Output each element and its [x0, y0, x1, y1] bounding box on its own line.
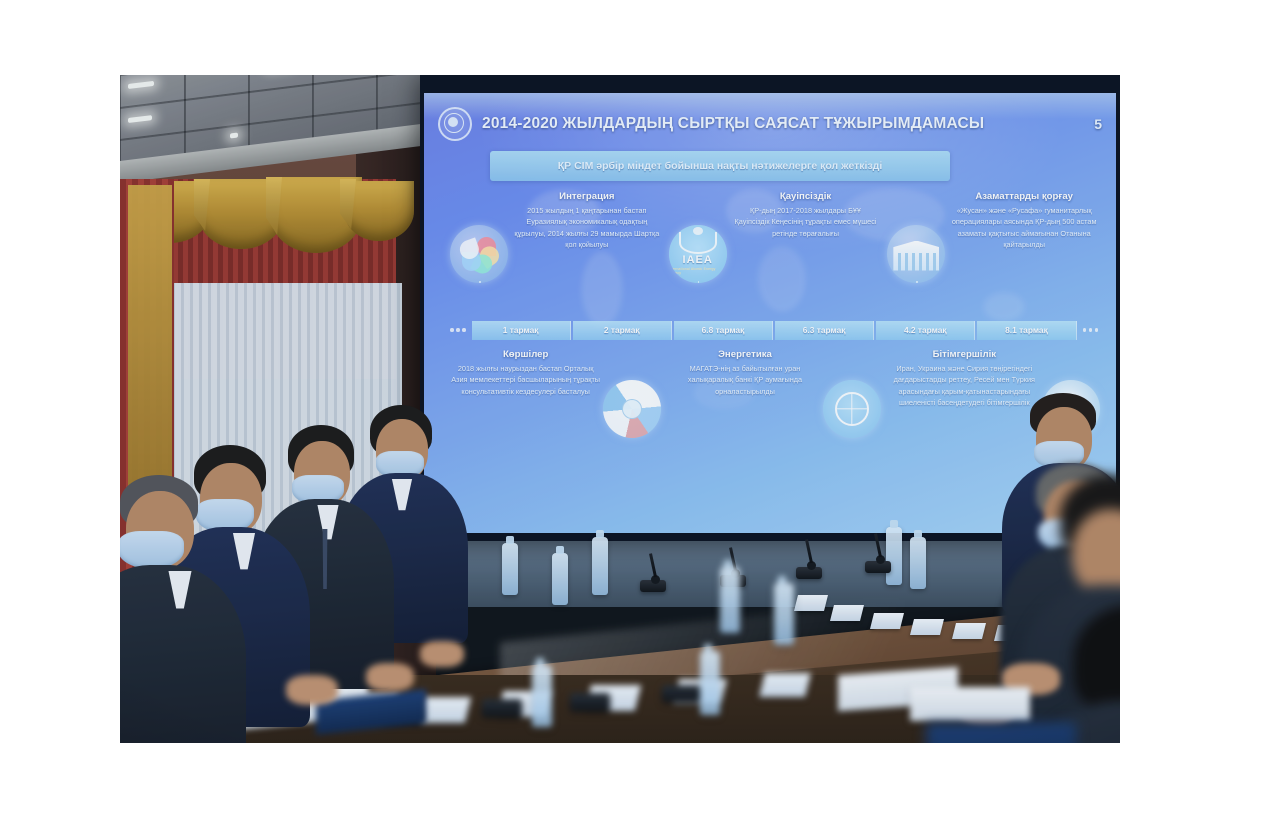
iaea-logo-icon: IAEA International Atomic Energy Agency: [669, 225, 727, 283]
tag-label: 6.3 тармақ: [803, 325, 846, 335]
name-card: [870, 613, 904, 629]
participant-hand: [286, 675, 338, 705]
documents-stack: [910, 687, 1030, 721]
slide-top-sections: Интеграция 2015 жылдың 1 қаңтарынан баст…: [450, 191, 1100, 316]
slide-tag-strip: 1 тармақ 2 тармақ 6.8 тармақ 6.3 тармақ …: [446, 320, 1102, 340]
tag-label: 4.2 тармақ: [904, 325, 947, 335]
water-bottle: [720, 567, 740, 633]
section-text: МАГАТЭ-нің аз байытылған уран халықаралы…: [669, 363, 820, 397]
tag-item: 4.2 тармақ: [876, 321, 975, 340]
water-bottle: [774, 583, 794, 645]
meeting-photograph: 2014-2020 ЖЫЛДАРДЫҢ СЫРТҚЫ САЯСАТ ТҰЖЫРЫ…: [120, 75, 1120, 743]
water-bottle: [552, 553, 568, 605]
tag-label: 6.8 тармақ: [702, 325, 745, 335]
name-card: [794, 595, 828, 611]
tag-item: 6.3 тармақ: [775, 321, 874, 340]
name-card: [910, 619, 944, 635]
document-folder: [926, 723, 1076, 743]
slide-bottom-sections: Көршілер 2018 жылғы наурыздан бастап Орт…: [448, 349, 1100, 469]
section-neighbours: Көршілер 2018 жылғы наурыздан бастап Орт…: [448, 349, 661, 469]
water-bottle: [502, 543, 518, 595]
slide-header: 2014-2020 ЖЫЛДАРДЫҢ СЫРТҚЫ САЯСАТ ТҰЖЫРЫ…: [438, 107, 1102, 141]
screenshot-canvas: 2014-2020 ЖЫЛДАРДЫҢ СЫРТҚЫ САЯСАТ ТҰЖЫРЫ…: [0, 0, 1272, 828]
water-bottle: [592, 537, 608, 595]
section-security: IAEA International Atomic Energy Agency …: [669, 191, 882, 316]
tag-label: 2 тармақ: [604, 325, 640, 335]
tag-item: 6.8 тармақ: [674, 321, 773, 340]
section-text: Иран, Украина және Сирия төңірегіндегі д…: [889, 363, 1040, 408]
microphone: [651, 575, 660, 584]
central-asia-swirl-icon: [603, 380, 661, 438]
slide-title: 2014-2020 ЖЫЛДАРДЫҢ СЫРТҚЫ САЯСАТ ТҰЖЫРЫ…: [482, 115, 984, 133]
microphone: [807, 561, 816, 570]
tag-label: 8.1 тармақ: [1005, 325, 1048, 335]
section-heading: Азаматтарды қорғау: [950, 191, 1098, 202]
tag-label: 1 тармақ: [503, 325, 539, 335]
tag-item: 1 тармақ: [472, 321, 571, 340]
projection-screen: 2014-2020 ЖЫЛДАРДЫҢ СЫРТҚЫ САЯСАТ ТҰЖЫРЫ…: [420, 75, 1120, 541]
tag-item: 8.1 тармақ: [977, 321, 1076, 340]
section-heading: Энергетика: [669, 349, 820, 360]
section-energy: Энергетика МАГАТЭ-нің аз байытылған уран…: [667, 349, 880, 469]
water-bottle: [910, 537, 926, 589]
dots-right-icon: [1079, 328, 1103, 332]
section-heading: Қауіпсіздік: [732, 191, 880, 202]
ministry-emblem-icon: [438, 107, 472, 141]
section-integration: Интеграция 2015 жылдың 1 қаңтарынан баст…: [450, 191, 663, 316]
participant-hand: [420, 641, 464, 667]
slide-subtitle-banner: ҚР СІМ әрбір міндет бойынша нақты нәтиже…: [490, 151, 950, 181]
section-text: 2015 жылдың 1 қаңтарынан бастап Еуразиял…: [513, 205, 661, 250]
un-globe-icon: [823, 380, 881, 438]
section-heading: Бітімгершілік: [889, 349, 1040, 360]
dots-left-icon: [446, 328, 470, 332]
section-citizen-protection: Азаматтарды қорғау «Жусан» және «Русафа»…: [887, 191, 1100, 316]
section-text: «Жусан» және «Русафа» гуманитарлық опера…: [950, 205, 1098, 250]
section-text: ҚР-дың 2017-2018 жылдары БҰҰ Қауіпсіздік…: [732, 205, 880, 239]
participant-hand: [366, 663, 414, 691]
section-text: 2018 жылғы наурыздан бастап Орталық Азия…: [450, 363, 601, 397]
tag-item: 2 тармақ: [573, 321, 672, 340]
section-heading: Интеграция: [513, 191, 661, 202]
section-heading: Көршілер: [450, 349, 601, 360]
name-card: [830, 605, 864, 621]
presentation-slide: 2014-2020 ЖЫЛДАРДЫҢ СЫРТҚЫ САЯСАТ ТҰЖЫРЫ…: [424, 93, 1116, 533]
eaeu-petal-icon: [450, 225, 508, 283]
iaea-acronym: IAEA: [683, 255, 713, 266]
microphone: [876, 555, 885, 564]
parliament-building-icon: [887, 225, 945, 283]
water-bottle: [886, 527, 902, 585]
slide-subtitle-text: ҚР СІМ әрбір міндет бойынша нақты нәтиже…: [558, 160, 883, 172]
iaea-subtitle: International Atomic Energy Agency: [669, 267, 727, 275]
slide-page-number: 5: [1094, 116, 1102, 132]
